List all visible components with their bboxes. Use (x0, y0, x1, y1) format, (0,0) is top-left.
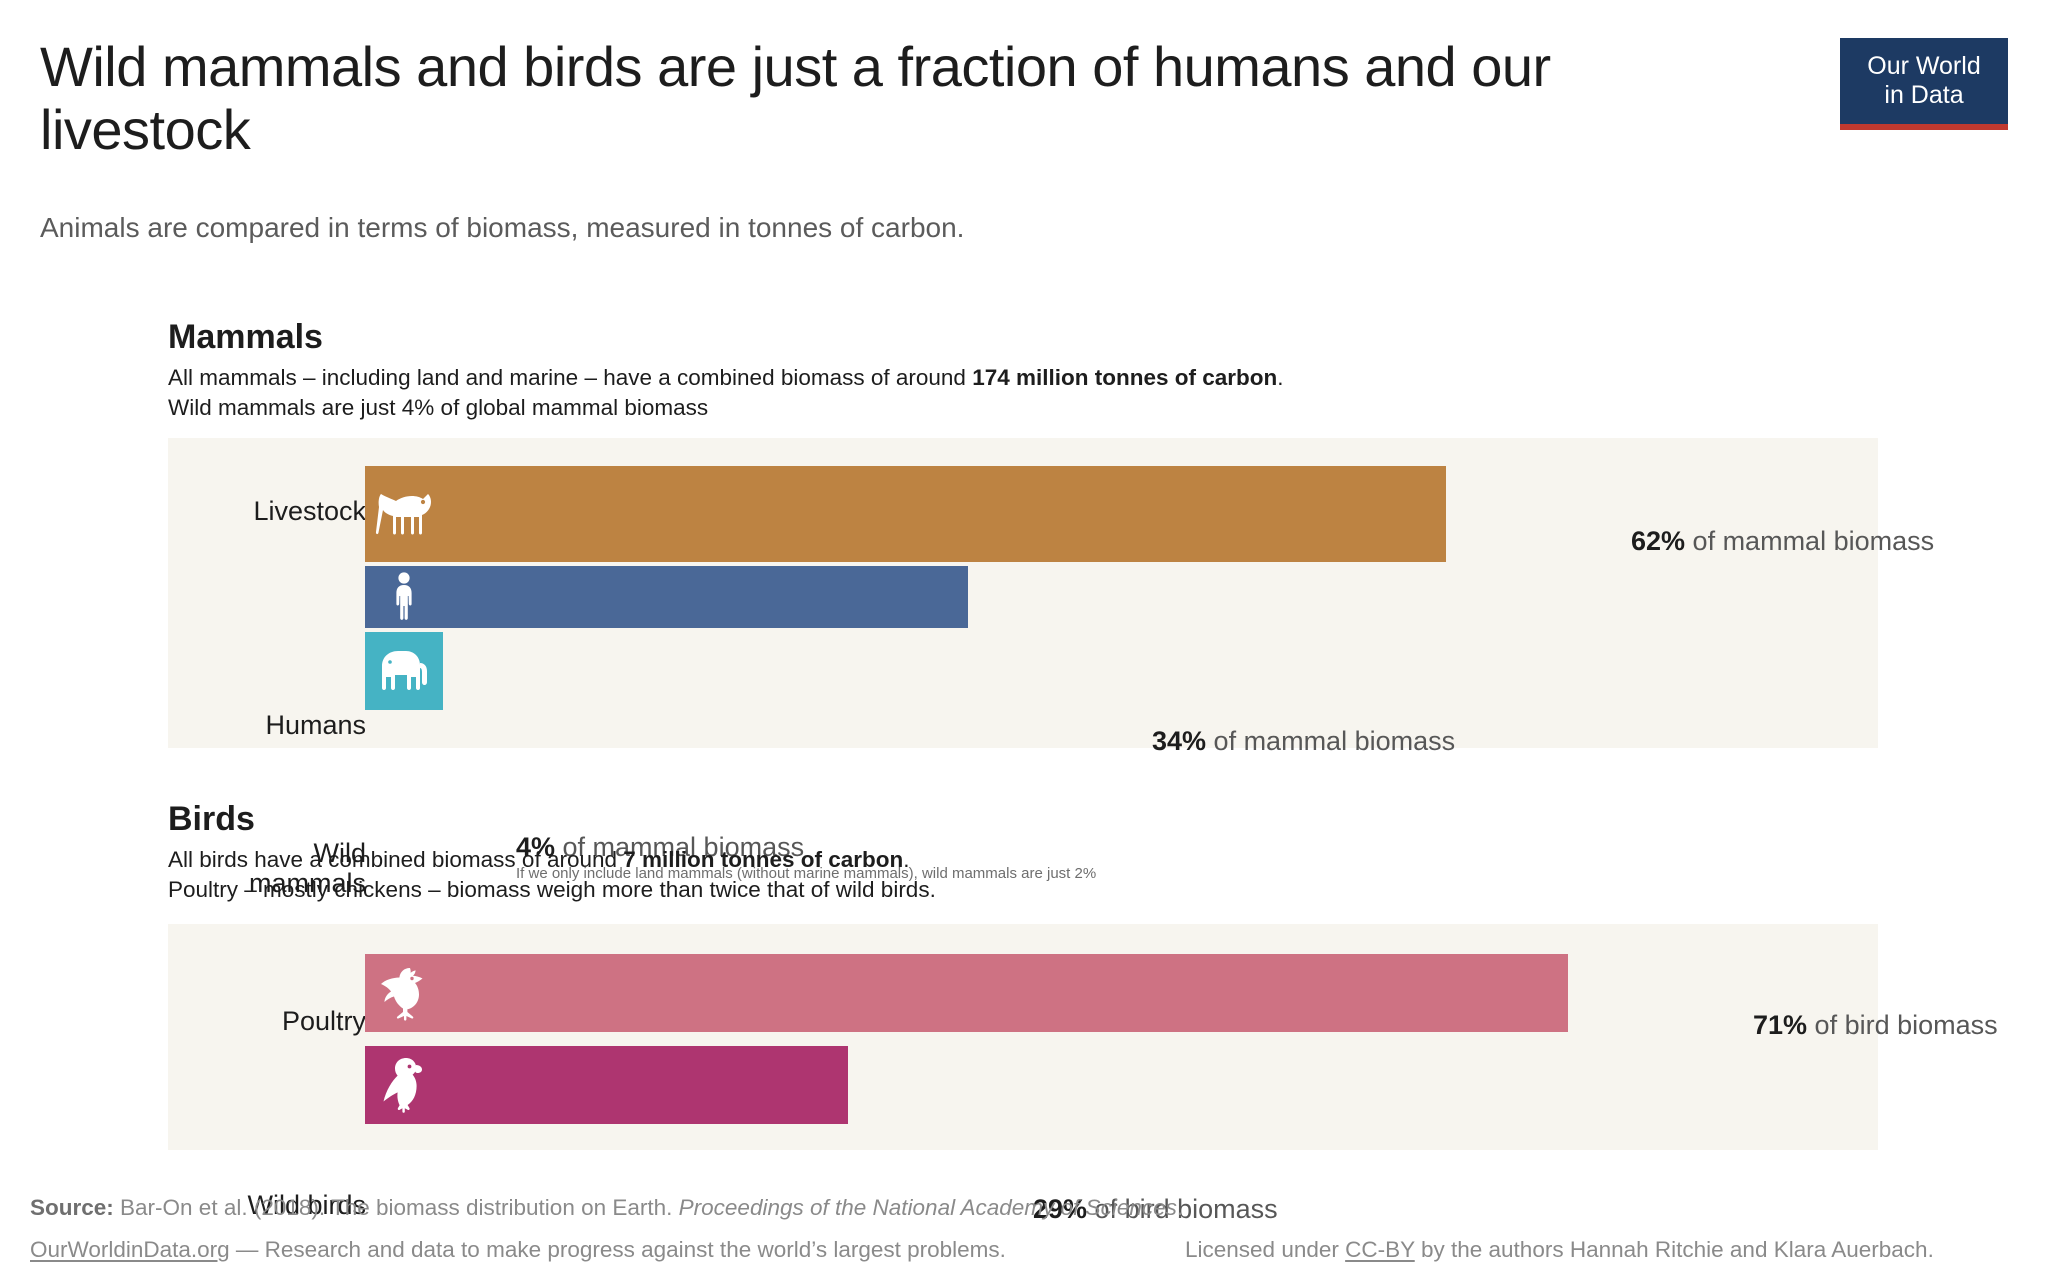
owid-logo-line2: in Data (1884, 81, 1963, 111)
row-livestock: Livestock 62% of mammal biomass (168, 466, 1878, 562)
row-label-poultry: Poultry (106, 1006, 366, 1036)
chicken-icon (365, 954, 443, 1032)
owid-logo-line1: Our World (1867, 52, 1980, 82)
cow-icon (365, 466, 443, 562)
owid-logo[interactable]: Our World in Data (1840, 38, 2008, 130)
footer-license: Licensed under CC-BY by the authors Hann… (1185, 1237, 1934, 1263)
cc-by-link[interactable]: CC-BY (1345, 1237, 1415, 1262)
chart-page: Wild mammals and birds are just a fracti… (0, 0, 2048, 1273)
footer-license-pre: Licensed under (1185, 1237, 1345, 1262)
value-pct-humans: 34% (1152, 726, 1206, 756)
mammals-title: Mammals (168, 318, 1284, 357)
birds-desc-bold: 7 million tonnes of carbon (623, 847, 903, 872)
footer-attribution: OurWorldinData.org — Research and data t… (30, 1237, 1006, 1263)
value-livestock: 62% of mammal biomass (1631, 526, 1934, 557)
footer-source-text: Bar-On et al. (2018). The biomass distri… (114, 1195, 679, 1220)
page-title: Wild mammals and birds are just a fracti… (40, 36, 1710, 161)
owid-site-link[interactable]: OurWorldinData.org (30, 1237, 230, 1262)
value-poultry: 71% of bird biomass (1753, 1010, 1998, 1041)
value-suffix-poultry: of bird biomass (1807, 1010, 1998, 1040)
birds-desc-pre: All birds have a combined biomass of aro… (168, 847, 623, 872)
mammals-desc-bold: 174 million tonnes of carbon (972, 365, 1277, 390)
mammals-desc-pre: All mammals – including land and marine … (168, 365, 972, 390)
parrot-icon (365, 1046, 443, 1124)
birds-description-line1: All birds have a combined biomass of aro… (168, 845, 936, 875)
bar-poultry[interactable] (365, 954, 1568, 1032)
row-label-humans: Humans (106, 710, 366, 740)
bar-humans[interactable] (365, 566, 968, 628)
value-pct-livestock: 62% (1631, 526, 1685, 556)
footer-source-end: . (1177, 1195, 1183, 1220)
mammals-panel: Livestock 62% of mammal biomass Humans (168, 438, 1878, 748)
row-wild-birds: Wild birds 29% of bird biomass (168, 1046, 1878, 1124)
row-humans: Humans 34% of mammal biomass (168, 566, 1878, 628)
bar-wild-birds[interactable] (365, 1046, 848, 1124)
person-icon (365, 566, 443, 628)
birds-desc-post: . (903, 847, 909, 872)
value-suffix-humans: of mammal biomass (1206, 726, 1455, 756)
birds-panel: Poultry 71% of bird biomass Wild birds (168, 924, 1878, 1150)
footer-source-journal: Proceedings of the National Academy of S… (679, 1195, 1177, 1220)
row-poultry: Poultry 71% of bird biomass (168, 954, 1878, 1032)
elephant-icon (365, 632, 443, 710)
value-humans: 34% of mammal biomass (1152, 726, 1455, 757)
row-label-livestock: Livestock (106, 496, 366, 526)
birds-title: Birds (168, 800, 936, 839)
footer-source-label: Source: (30, 1195, 114, 1220)
footer-source: Source: Bar-On et al. (2018). The biomas… (30, 1195, 1183, 1221)
row-wild-mammals: Wild mammals 4% of mammal biomass If we … (168, 632, 1878, 710)
mammals-desc-post: . (1277, 365, 1283, 390)
birds-section-header: Birds All birds have a combined biomass … (168, 800, 936, 905)
bar-wild-mammals[interactable] (365, 632, 443, 710)
page-subtitle: Animals are compared in terms of biomass… (40, 212, 964, 244)
footer-tagline: — Research and data to make progress aga… (230, 1237, 1006, 1262)
value-pct-poultry: 71% (1753, 1010, 1807, 1040)
birds-description-line2: Poultry – mostly chickens – biomass weig… (168, 875, 936, 905)
mammals-description-line2: Wild mammals are just 4% of global mamma… (168, 393, 1284, 423)
mammals-section-header: Mammals All mammals – including land and… (168, 318, 1284, 423)
bar-livestock[interactable] (365, 466, 1446, 562)
value-suffix-livestock: of mammal biomass (1685, 526, 1934, 556)
footer-license-post: by the authors Hannah Ritchie and Klara … (1415, 1237, 1934, 1262)
mammals-description-line1: All mammals – including land and marine … (168, 363, 1284, 393)
